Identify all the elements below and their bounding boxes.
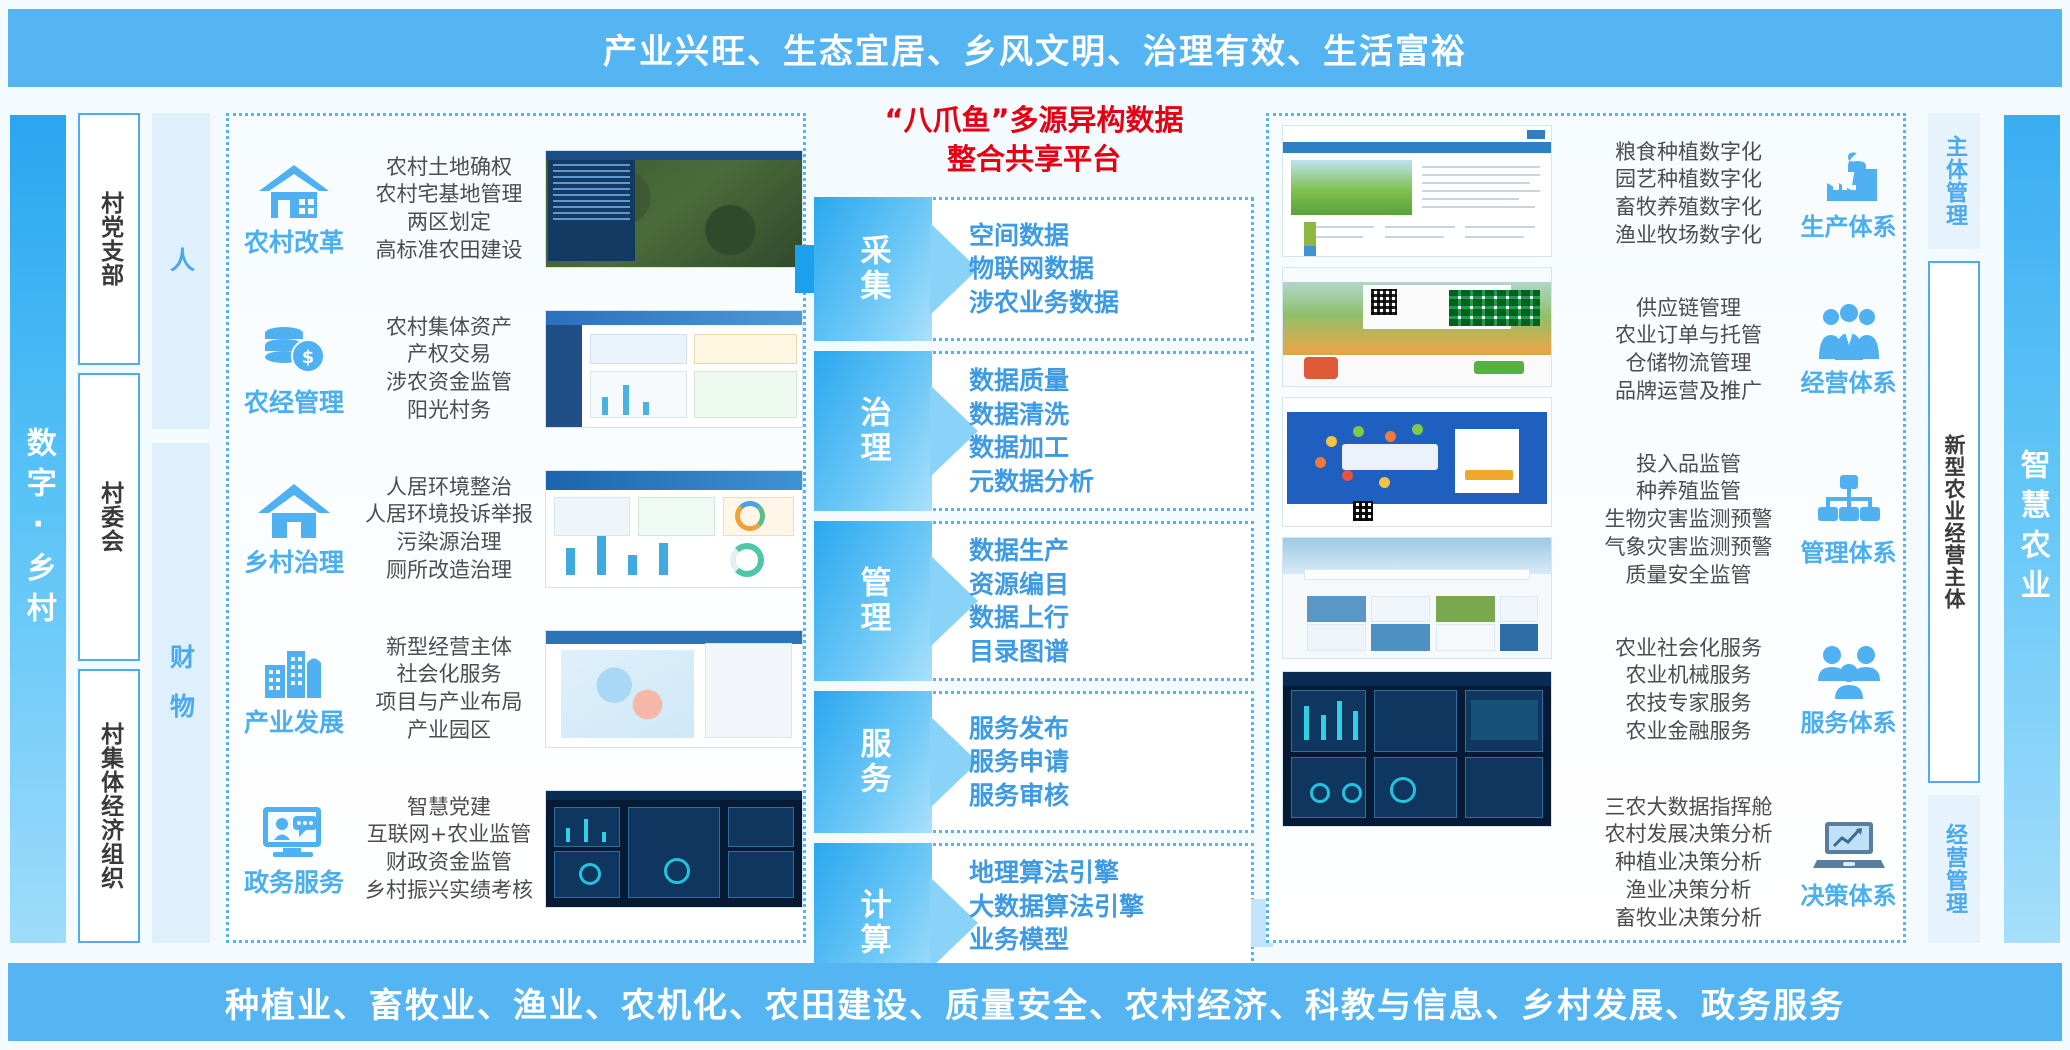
right-soft-operation-management: 经营管理 xyxy=(1928,795,1980,943)
feature-line: 产权交易 xyxy=(359,341,539,369)
feature-label-management-system: 管理体系 xyxy=(1801,533,1897,568)
feature-line: 农村土地确权 xyxy=(359,154,539,182)
coins-dollar-icon-wrap: $ 农经管理 xyxy=(229,319,359,419)
feature-lines-rural-governance: 人居环境整治 人居环境投诉举报 污染源治理 厕所改造治理 xyxy=(359,474,539,585)
three-persons-icon xyxy=(1813,643,1885,701)
feature-label-rural-governance: 乡村治理 xyxy=(244,543,344,579)
feature-label-rural-economy: 农经管理 xyxy=(244,383,344,419)
buildings-icon-wrap: 产业发展 xyxy=(229,639,359,739)
stage-item: 数据生产 xyxy=(969,534,1243,568)
screenshot-asset-console[interactable] xyxy=(545,310,803,428)
feature-line: 人居环境投诉举报 xyxy=(359,501,539,529)
feature-line: 畜牧业决策分析 xyxy=(1586,905,1791,933)
feature-line: 渔业牧场数字化 xyxy=(1586,222,1791,250)
soft-panel-assets: 财物 xyxy=(152,443,210,943)
org-box-village-committee[interactable]: 村委会 xyxy=(78,373,140,661)
feature-label-decision-system: 决策体系 xyxy=(1801,876,1897,911)
feature-lines-government-service: 智慧党建 互联网+农业监管 财政资金监管 乡村振兴实绩考核 xyxy=(359,794,539,905)
top-banner: 产业兴旺、生态宜居、乡风文明、治理有效、生活富裕 xyxy=(8,9,2062,87)
feature-line: 人居环境整治 xyxy=(359,474,539,502)
feature-row-industry-development[interactable]: 产业发展 新型经营主体 社会化服务 项目与产业布局 产业园区 xyxy=(229,614,809,764)
right-soft-subject-management: 主体管理 xyxy=(1928,113,1980,249)
feature-line: 供应链管理 xyxy=(1586,295,1791,323)
feature-line: 农业社会化服务 xyxy=(1586,635,1791,663)
feature-label-government-service: 政务服务 xyxy=(244,863,344,899)
bottom-banner-text: 种植业、畜牧业、渔业、农机化、农田建设、质量安全、农村经济、科教与信息、乡村发展… xyxy=(225,978,1845,1027)
screenshot-satellite-parcel-map[interactable] xyxy=(545,150,803,268)
right-vertical-title-text: 智慧农业 xyxy=(2010,449,2054,609)
org-box-party-branch[interactable]: 村党支部 xyxy=(78,113,140,365)
feature-line: 渔业决策分析 xyxy=(1586,877,1791,905)
screenshot-governance-dashboard[interactable] xyxy=(545,470,803,588)
feature-lines-rural-reform: 农村土地确权 农村宅基地管理 两区划定 高标准农田建设 xyxy=(359,154,539,265)
stage-key-collect: 采集 xyxy=(814,197,932,341)
laptop-chart-icon xyxy=(1813,816,1885,874)
feature-label-service-system: 服务体系 xyxy=(1801,703,1897,738)
stage-item: 业务模型 xyxy=(969,923,1243,957)
soft-panel-people-label: 人 xyxy=(159,247,204,296)
top-banner-text: 产业兴旺、生态宜居、乡风文明、治理有效、生活富裕 xyxy=(603,24,1467,73)
feature-line: 厕所改造治理 xyxy=(359,557,539,585)
platform-stage-service[interactable]: 服务 服务发布 服务申请 服务审核 xyxy=(814,691,1254,833)
feature-line: 投入品监管 xyxy=(1586,451,1791,479)
feature-line: 粮食种植数字化 xyxy=(1586,139,1791,167)
feature-line: 气象灾害监测预警 xyxy=(1586,534,1791,562)
org-tree-icon-wrap: 管理体系 xyxy=(1791,473,1906,568)
screenshot-service-tiles-portal[interactable] xyxy=(1282,537,1552,659)
main-stage: 数字·乡村 村党支部 村委会 村集体经济组织 人 财物 xyxy=(0,95,2070,963)
feature-line: 农业金融服务 xyxy=(1586,718,1791,746)
screenshot-bigdata-dark-dashboard[interactable] xyxy=(1282,671,1552,827)
feature-lines-management-system: 投入品监管 种养殖监管 生物灾害监测预警 气象灾害监测预警 质量安全监管 xyxy=(1586,451,1791,590)
stage-item: 服务审核 xyxy=(969,779,1243,813)
stage-key-service: 服务 xyxy=(814,691,932,833)
stage-item: 涉农业务数据 xyxy=(969,286,1243,320)
feature-row-production-system[interactable]: 粮食种植数字化 园艺种植数字化 畜牧养殖数字化 渔业牧场数字化 生产体系 xyxy=(1586,119,1906,269)
platform-column: “八爪鱼”多源异构数据 整合共享平台 采集 空间数据 物联网数据 涉农业务数据 … xyxy=(814,95,1254,963)
feature-line: 农技专家服务 xyxy=(1586,690,1791,718)
feature-label-rural-reform: 农村改革 xyxy=(244,223,344,259)
three-persons-icon-wrap: 服务体系 xyxy=(1791,643,1906,738)
feature-line: 质量安全监管 xyxy=(1586,562,1791,590)
feature-line: 品牌运营及推广 xyxy=(1586,378,1791,406)
org-box-party-branch-label: 村党支部 xyxy=(96,191,121,287)
feature-line: 农业机械服务 xyxy=(1586,662,1791,690)
feature-line: 阳光村务 xyxy=(359,397,539,425)
feature-line: 两区划定 xyxy=(359,209,539,237)
org-box-collective-economy-label: 村集体经济组织 xyxy=(96,722,121,890)
feature-row-operation-system[interactable]: 供应链管理 农业订单与托管 仓储物流管理 品牌运营及推广 经营体系 xyxy=(1586,275,1906,425)
stage-items-govern: 数据质量 数据清洗 数据加工 元数据分析 xyxy=(969,354,1243,508)
screenshot-industry-map[interactable] xyxy=(545,630,803,748)
feature-label-industry-development: 产业发展 xyxy=(244,703,344,739)
platform-stage-collect[interactable]: 采集 空间数据 物联网数据 涉农业务数据 xyxy=(814,197,1254,341)
feature-line: 产业园区 xyxy=(359,717,539,745)
service-screen-icon xyxy=(257,799,331,859)
stage-item: 空间数据 xyxy=(969,219,1243,253)
left-vertical-title: 数字·乡村 xyxy=(10,115,66,943)
platform-stage-govern[interactable]: 治理 数据质量 数据清洗 数据加工 元数据分析 xyxy=(814,351,1254,511)
feature-line: 污染源治理 xyxy=(359,529,539,557)
stage-item: 服务发布 xyxy=(969,712,1243,746)
factory-icon xyxy=(1813,147,1885,205)
feature-line: 互联网+农业监管 xyxy=(359,821,539,849)
feature-label-operation-system: 经营体系 xyxy=(1801,363,1897,398)
feature-line: 种养殖监管 xyxy=(1586,478,1791,506)
right-box-new-agri-operators[interactable]: 新型农业经营主体 xyxy=(1928,261,1980,783)
house-reform-icon-wrap: 农村改革 xyxy=(229,159,359,259)
feature-lines-production-system: 粮食种植数字化 园艺种植数字化 畜牧养殖数字化 渔业牧场数字化 xyxy=(1586,139,1791,250)
home-governance-icon-wrap: 乡村治理 xyxy=(229,479,359,579)
feature-lines-rural-economy: 农村集体资产 产权交易 涉农资金监管 阳光村务 xyxy=(359,314,539,425)
feature-line: 新型经营主体 xyxy=(359,634,539,662)
svg-text:$: $ xyxy=(302,347,315,368)
feature-lines-decision-system: 三农大数据指挥舱 农村发展决策分析 种植业决策分析 渔业决策分析 畜牧业决策分析 xyxy=(1586,794,1791,933)
feature-line: 生物灾害监测预警 xyxy=(1586,506,1791,534)
left-feature-panel: 农村改革 农村土地确权 农村宅基地管理 两区划定 高标准农田建设 xyxy=(226,113,806,943)
feature-line: 种植业决策分析 xyxy=(1586,849,1791,877)
feature-line: 农业订单与托管 xyxy=(1586,322,1791,350)
feature-line: 三农大数据指挥舱 xyxy=(1586,794,1791,822)
stage-item: 物联网数据 xyxy=(969,252,1243,286)
platform-title: “八爪鱼”多源异构数据 整合共享平台 xyxy=(814,101,1254,179)
stage-item: 数据加工 xyxy=(969,431,1243,465)
feature-row-rural-governance[interactable]: 乡村治理 人居环境整治 人居环境投诉举报 污染源治理 厕所改造治理 xyxy=(229,454,809,604)
stage-key-manage: 管理 xyxy=(814,521,932,681)
people-group-icon-wrap: 经营体系 xyxy=(1791,303,1906,398)
stage-items-manage: 数据生产 资源编目 数据上行 目录图谱 xyxy=(969,524,1243,678)
stage-item: 资源编目 xyxy=(969,568,1243,602)
feature-row-rural-economy[interactable]: $ 农经管理 农村集体资产 产权交易 涉农资金监管 阳光村务 xyxy=(229,294,809,444)
people-group-icon xyxy=(1813,303,1885,361)
feature-line: 仓储物流管理 xyxy=(1586,350,1791,378)
feature-line: 农村集体资产 xyxy=(359,314,539,342)
platform-title-line2: 整合共享平台 xyxy=(814,140,1254,179)
bottom-banner: 种植业、畜牧业、渔业、农机化、农田建设、质量安全、农村经济、科教与信息、乡村发展… xyxy=(8,963,2062,1041)
stage-items-collect: 空间数据 物联网数据 涉农业务数据 xyxy=(969,200,1243,338)
right-soft-operation-management-label: 经营管理 xyxy=(1938,823,1970,915)
coins-dollar-icon: $ xyxy=(257,319,331,379)
right-soft-subject-management-label: 主体管理 xyxy=(1938,135,1970,227)
feature-line: 农村发展决策分析 xyxy=(1586,821,1791,849)
feature-row-decision-system[interactable]: 三农大数据指挥舱 农村发展决策分析 种植业决策分析 渔业决策分析 畜牧业决策分析… xyxy=(1586,777,1906,949)
org-tree-icon xyxy=(1813,473,1885,531)
stage-item: 目录图谱 xyxy=(969,635,1243,669)
stage-item: 数据上行 xyxy=(969,601,1243,635)
feature-line: 农村宅基地管理 xyxy=(359,181,539,209)
laptop-chart-icon-wrap: 决策体系 xyxy=(1791,816,1906,911)
feature-row-service-system[interactable]: 农业社会化服务 农业机械服务 农技专家服务 农业金融服务 服务体系 xyxy=(1586,615,1906,765)
feature-line: 财政资金监管 xyxy=(359,849,539,877)
feature-line: 畜牧养殖数字化 xyxy=(1586,194,1791,222)
feature-row-rural-reform[interactable]: 农村改革 农村土地确权 农村宅基地管理 两区划定 高标准农田建设 xyxy=(229,134,809,284)
feature-line: 园艺种植数字化 xyxy=(1586,166,1791,194)
stage-key-govern: 治理 xyxy=(814,351,932,511)
soft-panel-assets-label: 财物 xyxy=(159,644,204,742)
factory-icon-wrap: 生产体系 xyxy=(1791,147,1906,242)
stage-item: 数据清洗 xyxy=(969,398,1243,432)
feature-row-management-system[interactable]: 投入品监管 种养殖监管 生物灾害监测预警 气象灾害监测预警 质量安全监管 管理体… xyxy=(1586,431,1906,609)
screenshot-produce-traceability-site[interactable] xyxy=(1282,267,1552,387)
buildings-icon xyxy=(257,639,331,699)
right-vertical-title: 智慧农业 xyxy=(2004,115,2060,943)
feature-label-production-system: 生产体系 xyxy=(1801,207,1897,242)
feature-line: 高标准农田建设 xyxy=(359,237,539,265)
stage-items-service: 服务发布 服务申请 服务审核 xyxy=(969,694,1243,830)
right-box-new-agri-operators-label: 新型农业经营主体 xyxy=(1939,434,1969,610)
feature-line: 社会化服务 xyxy=(359,661,539,689)
house-reform-icon xyxy=(257,159,331,219)
stage-item: 大数据算法引擎 xyxy=(969,890,1243,924)
stage-item: 服务申请 xyxy=(969,745,1243,779)
feature-lines-operation-system: 供应链管理 农业订单与托管 仓储物流管理 品牌运营及推广 xyxy=(1586,295,1791,406)
screenshot-party-dashboard[interactable] xyxy=(545,790,803,908)
screenshot-agri-portal-website[interactable] xyxy=(1282,125,1552,257)
platform-title-line1: “八爪鱼”多源异构数据 xyxy=(814,101,1254,140)
home-governance-icon xyxy=(257,479,331,539)
feature-lines-service-system: 农业社会化服务 农业机械服务 农技专家服务 农业金融服务 xyxy=(1586,635,1791,746)
screenshot-food-safety-login-portal[interactable] xyxy=(1282,397,1552,527)
feature-line: 项目与产业布局 xyxy=(359,689,539,717)
feature-line: 乡村振兴实绩考核 xyxy=(359,877,539,905)
soft-panel-people: 人 xyxy=(152,113,210,429)
stage-item: 元数据分析 xyxy=(969,465,1243,499)
org-box-village-committee-label: 村委会 xyxy=(96,481,121,553)
feature-row-government-service[interactable]: 政务服务 智慧党建 互联网+农业监管 财政资金监管 乡村振兴实绩考核 xyxy=(229,774,809,924)
left-vertical-title-text: 数字·乡村 xyxy=(16,427,60,632)
feature-line: 智慧党建 xyxy=(359,794,539,822)
org-box-collective-economy[interactable]: 村集体经济组织 xyxy=(78,669,140,943)
stage-item: 数据质量 xyxy=(969,364,1243,398)
service-screen-icon-wrap: 政务服务 xyxy=(229,799,359,899)
feature-line: 涉农资金监管 xyxy=(359,369,539,397)
platform-stage-manage[interactable]: 管理 数据生产 资源编目 数据上行 目录图谱 xyxy=(814,521,1254,681)
stage-item: 地理算法引擎 xyxy=(969,856,1243,890)
feature-lines-industry-development: 新型经营主体 社会化服务 项目与产业布局 产业园区 xyxy=(359,634,539,745)
